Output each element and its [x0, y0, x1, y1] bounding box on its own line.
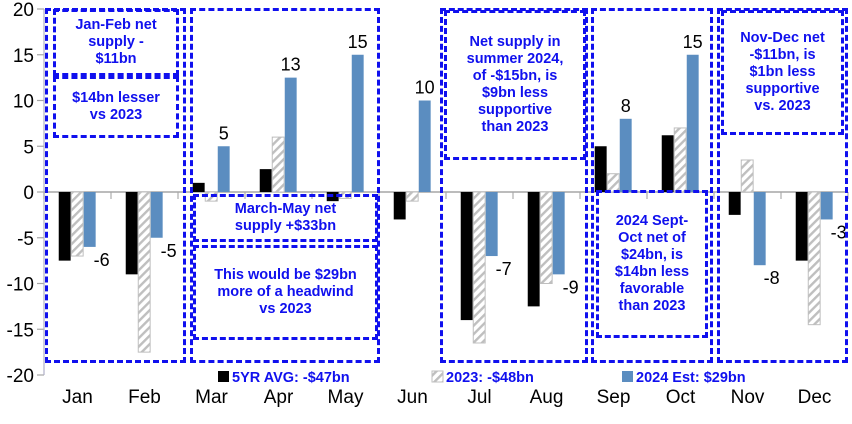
annotation-march-may-headwind: This would be $29bn more of a headwind v…	[193, 245, 378, 340]
annotation-line: summer 2024,	[449, 51, 581, 68]
annotation-line: $11bn	[58, 51, 174, 68]
annotation-line: -$11bn, is	[726, 47, 839, 64]
annotation-line: vs. 2023	[726, 98, 839, 115]
legend-label-2023: 2023: -$48bn	[446, 370, 534, 386]
annotation-sept-oct-net: 2024 Sept- Oct net of $24bn, is $14bn le…	[596, 190, 708, 338]
y-axis-tick-label: 20	[13, 0, 34, 21]
annotation-march-may-net-supply: March-May net supply +$33bn	[193, 194, 378, 242]
y-axis-tick-label: -10	[7, 275, 34, 296]
x-axis-label-oct: Oct	[666, 387, 696, 408]
annotation-line: of -$15bn, is	[449, 68, 581, 85]
x-axis-label-jan: Jan	[62, 387, 93, 408]
annotation-line: vs 2023	[58, 107, 174, 124]
annotation-line: $24bn, is	[601, 247, 703, 264]
y-axis-tick-label: -15	[7, 320, 34, 341]
y-axis-tick-label: 15	[13, 46, 34, 67]
legend-label-5yr-avg: 5YR AVG: -$47bn	[232, 370, 350, 386]
annotation-nov-dec-net: Nov-Dec net -$11bn, is $1bn less support…	[721, 10, 844, 135]
annotation-line: more of a headwind	[198, 284, 373, 301]
legend-swatch-2023-icon	[432, 371, 443, 382]
x-axis-label-jun: Jun	[397, 387, 428, 408]
annotation-line: vs 2023	[198, 301, 373, 318]
annotation-line: $1bn less	[726, 64, 839, 81]
annotation-line: supply +$33bn	[198, 218, 373, 235]
annotation-line: 2024 Sept-	[601, 213, 703, 230]
x-axis-label-sep: Sep	[597, 387, 631, 408]
legend-swatch-2024-est-icon	[622, 371, 633, 382]
annotation-jan-feb-net-supply: Jan-Feb net supply - $11bn	[53, 9, 179, 76]
annotation-line: supportive	[726, 81, 839, 98]
y-axis-tick-label: 10	[13, 92, 34, 113]
y-axis-tick-label: 0	[23, 183, 34, 204]
x-axis-label-nov: Nov	[731, 387, 765, 408]
annotation-line: Jan-Feb net	[58, 17, 174, 34]
annotation-line: $14bn lesser	[58, 90, 174, 107]
annotation-line: supply -	[58, 34, 174, 51]
annotation-line: than 2023	[449, 119, 581, 136]
annotation-line: than 2023	[601, 298, 703, 315]
annotation-summer-net-supply: Net supply in summer 2024, of -$15bn, is…	[444, 10, 586, 160]
y-axis-tick-label: -5	[17, 229, 34, 250]
annotation-line: $14bn less	[601, 264, 703, 281]
annotation-line: March-May net	[198, 201, 373, 218]
annotation-line: $9bn less	[449, 85, 581, 102]
annotation-line: Oct net of	[601, 230, 703, 247]
x-axis-label-mar: Mar	[195, 387, 228, 408]
x-axis-label-apr: Apr	[264, 387, 294, 408]
legend-label-2024-est: 2024 Est: $29bn	[636, 370, 746, 386]
y-axis-tick-label: -20	[7, 366, 34, 387]
x-axis-label-feb: Feb	[128, 387, 161, 408]
bar-jun-2024-est	[419, 101, 431, 193]
bar-jun-2023	[406, 192, 418, 201]
annotation-line: supportive	[449, 102, 581, 119]
annotation-line: favorable	[601, 281, 703, 298]
annotation-line: Net supply in	[449, 34, 581, 51]
annotation-line: This would be $29bn	[198, 267, 373, 284]
annotation-jan-feb-lesser: $14bn lesser vs 2023	[53, 76, 179, 138]
x-axis-label-jul: Jul	[467, 387, 491, 408]
bar-jun-5yr-avg	[394, 192, 406, 219]
legend-swatch-5yr-avg-icon	[218, 371, 229, 382]
x-axis-label-dec: Dec	[798, 387, 832, 408]
x-axis-label-may: May	[328, 387, 364, 408]
chart-root: 20151050-5-10-15-20 -6-55131510-7-9815-8…	[0, 0, 852, 424]
y-axis-tick-label: 5	[23, 137, 34, 158]
annotation-line: Nov-Dec net	[726, 30, 839, 47]
category-labels-layer: JanFebMarAprMayJunJulAugSepOctNovDec	[62, 387, 831, 408]
data-label-jun: 10	[415, 78, 435, 98]
chart-legend: 5YR AVG: -$47bn2023: -$48bn2024 Est: $29…	[218, 370, 746, 386]
x-axis-label-aug: Aug	[530, 387, 564, 408]
